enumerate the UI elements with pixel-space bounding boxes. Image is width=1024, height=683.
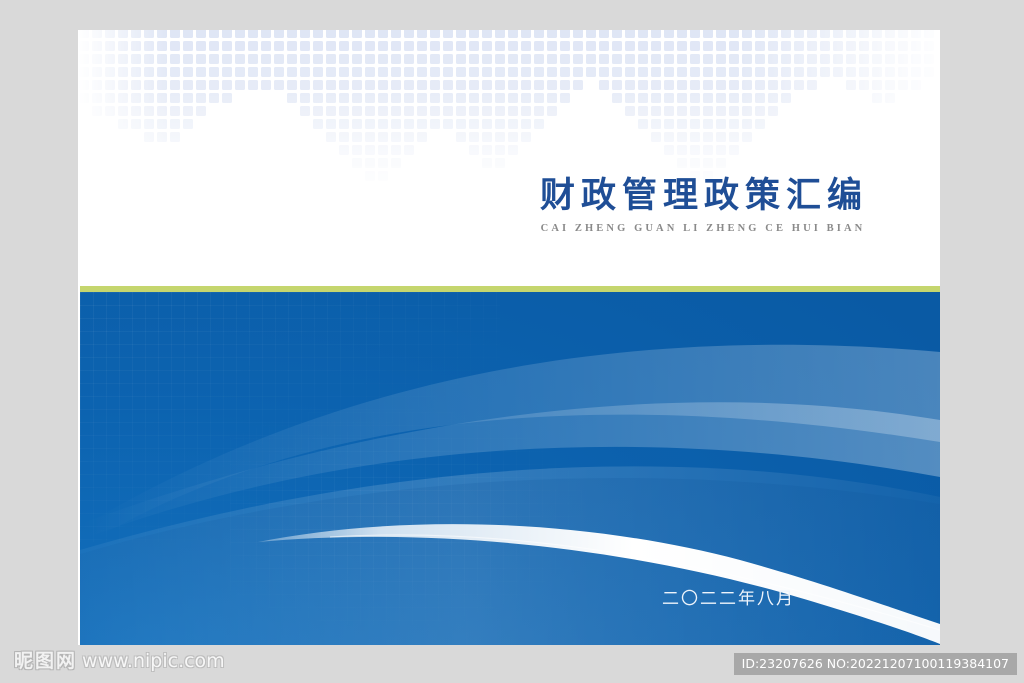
skyline-cell [404,93,414,103]
skyline-cell [872,54,882,64]
skyline-cell [885,93,895,103]
skyline-cell [742,30,752,38]
swoosh-graphic [80,292,940,645]
skyline-cell [209,54,219,64]
skyline-cell [274,80,284,90]
skyline-cell [131,106,141,116]
skyline-cell [391,106,401,116]
skyline-cell [378,171,388,181]
skyline-cell [183,54,193,64]
skyline-cell [287,67,297,77]
skyline-cell [300,93,310,103]
skyline-cell [521,93,531,103]
skyline-cell [885,54,895,64]
skyline-cell [352,67,362,77]
skyline-cell [209,93,219,103]
skyline-cell [768,41,778,51]
skyline-cell [677,119,687,129]
skyline-cell [664,145,674,155]
skyline-cell [144,119,154,129]
nipic-logo-char: 图 [35,652,54,671]
skyline-cell [573,67,583,77]
skyline-cell [196,67,206,77]
skyline-cell [573,30,583,38]
skyline-cell [235,80,245,90]
skyline-cell [794,80,804,90]
skyline-cell [456,30,466,38]
skyline-cell [209,67,219,77]
skyline-cell [534,67,544,77]
skyline-cell [391,41,401,51]
skyline-cell [599,30,609,38]
skyline-cell [456,54,466,64]
skyline-cell [690,106,700,116]
skyline-cell [131,119,141,129]
skyline-cell [469,145,479,155]
skyline-cell [105,41,115,51]
skyline-cell [664,80,674,90]
skyline-cell [352,106,362,116]
skyline-cell [508,67,518,77]
skyline-cell [638,41,648,51]
skyline-cell [872,41,882,51]
skyline-cell [859,80,869,90]
skyline-cell [521,67,531,77]
skyline-cell [820,41,830,51]
skyline-cell [456,132,466,142]
skyline-cell [378,158,388,168]
skyline-cell [898,41,908,51]
skyline-cell [144,93,154,103]
skyline-cell [456,80,466,90]
skyline-cell [521,54,531,64]
skyline-cell [664,119,674,129]
skyline-cell [547,54,557,64]
skyline-cell [807,54,817,64]
skyline-cell [690,132,700,142]
skyline-cell [196,41,206,51]
skyline-cell [248,30,258,38]
skyline-cell [417,119,427,129]
skyline-cell [547,93,557,103]
skyline-cell [846,41,856,51]
skyline-cell [157,41,167,51]
skyline-cell [703,93,713,103]
nipic-logo-char: 网 [56,652,75,671]
skyline-cell [300,41,310,51]
skyline-cell [885,80,895,90]
skyline-cell [521,106,531,116]
skyline-cell [924,30,934,38]
skyline-cell [482,145,492,155]
skyline-cell [300,67,310,77]
skyline-cell [131,67,141,77]
skyline-cell [690,67,700,77]
skyline-cell [560,93,570,103]
skyline-cell [456,93,466,103]
skyline-cell [651,132,661,142]
skyline-cell [131,41,141,51]
skyline-cell [352,30,362,38]
skyline-cell [144,80,154,90]
skyline-cell [261,54,271,64]
skyline-cell [677,41,687,51]
skyline-cell [456,41,466,51]
skyline-cell [274,54,284,64]
skyline-cell [872,30,882,38]
skyline-cell [157,106,167,116]
skyline-cell [469,132,479,142]
skyline-cell [716,158,726,168]
skyline-cell [430,119,440,129]
skyline-cell [768,67,778,77]
skyline-cell [482,30,492,38]
skyline-cell [924,41,934,51]
skyline-cell [404,67,414,77]
skyline-cell [222,93,232,103]
skyline-cell [287,80,297,90]
skyline-cell [404,80,414,90]
skyline-cell [365,158,375,168]
skyline-cell [443,30,453,38]
skyline-cell [378,145,388,155]
skyline-cell [755,106,765,116]
skyline-cell [651,67,661,77]
skyline-cell [612,67,622,77]
skyline-cell [807,67,817,77]
skyline-cell [378,30,388,38]
cover-title-chinese: 财政管理政策汇编 [534,176,868,216]
skyline-cell [703,145,713,155]
skyline-cell [183,119,193,129]
skyline-cell [833,54,843,64]
skyline-cell [417,30,427,38]
skyline-cell [716,30,726,38]
skyline-cell [248,67,258,77]
skyline-cell [742,106,752,116]
skyline-cell [807,30,817,38]
skyline-cell [222,54,232,64]
skyline-cell [651,30,661,38]
skyline-cell [677,67,687,77]
skyline-cell [183,67,193,77]
skyline-cell [378,80,388,90]
skyline-cell [820,67,830,77]
skyline-cell [326,30,336,38]
skyline-cell [248,80,258,90]
skyline-cell [599,41,609,51]
skyline-cell [534,30,544,38]
skyline-cell [404,106,414,116]
skyline-cell [469,54,479,64]
skyline-cell [560,30,570,38]
skyline-cell [872,93,882,103]
skyline-cell [313,80,323,90]
skyline-cell [339,54,349,64]
skyline-cell [716,132,726,142]
skyline-cell [846,54,856,64]
skyline-cell [651,93,661,103]
skyline-cell [365,80,375,90]
skyline-cell [261,30,271,38]
skyline-cell [196,80,206,90]
skyline-cell [391,30,401,38]
skyline-cell [612,30,622,38]
skyline-cell [404,119,414,129]
skyline-cell [170,54,180,64]
skyline-cell [443,41,453,51]
skyline-cell [534,54,544,64]
skyline-cell [898,54,908,64]
skyline-cell [703,41,713,51]
skyline-cell [573,80,583,90]
skyline-cell [534,106,544,116]
skyline-cell [612,54,622,64]
skyline-cell [131,30,141,38]
skyline-cell [859,30,869,38]
skyline-cell [105,93,115,103]
nipic-logo-char: 昵 [14,652,33,671]
cover-title-pinyin: CAI ZHENG GUAN LI ZHENG CE HUI BIAN [534,223,868,234]
skyline-cell [157,67,167,77]
skyline-cell [638,93,648,103]
skyline-cell [729,119,739,129]
skyline-cell [144,67,154,77]
skyline-cell [703,30,713,38]
skyline-cell [469,106,479,116]
skyline-cell [586,54,596,64]
skyline-cell [352,158,362,168]
skyline-cell [495,106,505,116]
skyline-cell [326,67,336,77]
skyline-cell [664,93,674,103]
skyline-cell [521,41,531,51]
skyline-cell [482,41,492,51]
skyline-cell [430,54,440,64]
skyline-cell [287,93,297,103]
skyline-cell [859,67,869,77]
skyline-cell [677,132,687,142]
skyline-cell [365,145,375,155]
skyline-cell [235,67,245,77]
skyline-cell [170,132,180,142]
skyline-cell [235,41,245,51]
skyline-cell [118,80,128,90]
skyline-cell [833,41,843,51]
watermark-url: www.nipic.com [82,652,225,671]
skyline-cell [495,119,505,129]
skyline-cell [274,30,284,38]
skyline-cell [404,54,414,64]
skyline-cell [547,106,557,116]
skyline-cell [534,93,544,103]
skyline-cell [326,119,336,129]
skyline-cell [703,67,713,77]
nipic-logo-icon: 昵图网 [14,652,75,671]
skyline-cell [820,30,830,38]
skyline-cell [274,67,284,77]
skyline-cell [742,119,752,129]
skyline-cell [287,54,297,64]
skyline-cell [716,54,726,64]
skyline-cell [482,67,492,77]
skyline-cell [885,41,895,51]
skyline-cell [105,30,115,38]
skyline-cell [417,132,427,142]
skyline-cell [482,119,492,129]
skyline-cell [157,93,167,103]
skyline-cell [508,54,518,64]
skyline-cell [339,80,349,90]
skyline-cell [768,30,778,38]
skyline-cell [378,106,388,116]
skyline-cell [118,54,128,64]
skyline-cell [859,41,869,51]
skyline-cell [586,41,596,51]
skyline-cell [885,67,895,77]
skyline-cell [833,30,843,38]
skyline-cell [729,54,739,64]
skyline-cell [755,67,765,77]
skyline-cell [742,93,752,103]
skyline-cell [417,67,427,77]
skyline-cell [911,54,921,64]
skyline-cell [742,80,752,90]
screenshot-canvas: 财政管理政策汇编 CAI ZHENG GUAN LI ZHENG CE HUI … [0,0,1024,683]
skyline-cell [508,132,518,142]
skyline-cell [755,30,765,38]
watermark-id-badge: ID:23207626 NO:20221207100119384107 [734,653,1017,675]
skyline-cell [794,54,804,64]
skyline-cell [833,67,843,77]
skyline-cell [391,132,401,142]
skyline-cell [664,106,674,116]
skyline-cell [183,106,193,116]
skyline-cell [638,119,648,129]
skyline-cell [729,80,739,90]
skyline-cell [820,54,830,64]
skyline-cell [313,106,323,116]
skyline-cell [508,119,518,129]
skyline-cell [482,132,492,142]
skyline-cell [495,30,505,38]
skyline-cell [326,93,336,103]
skyline-cell [482,93,492,103]
skyline-cell [547,67,557,77]
skyline-cell [859,54,869,64]
skyline-cell [638,67,648,77]
skyline-cell [612,41,622,51]
skyline-cell [768,54,778,64]
skyline-cell [300,30,310,38]
skyline-cell [183,30,193,38]
skyline-cell [781,41,791,51]
skyline-cell [196,93,206,103]
skyline-cell [261,80,271,90]
skyline-cell [677,54,687,64]
cover-artboard[interactable]: 财政管理政策汇编 CAI ZHENG GUAN LI ZHENG CE HUI … [78,30,940,645]
skyline-cell [690,93,700,103]
skyline-cell [638,54,648,64]
skyline-cell [690,158,700,168]
skyline-cell [677,80,687,90]
skyline-cell [92,41,102,51]
skyline-cell [170,67,180,77]
skyline-cell [170,93,180,103]
skyline-cell [625,41,635,51]
skyline-cell [339,145,349,155]
skyline-cell [625,30,635,38]
skyline-cell [625,67,635,77]
skyline-cell [664,54,674,64]
skyline-cell [690,30,700,38]
skyline-cell [92,67,102,77]
skyline-cell [170,41,180,51]
skyline-cell [443,119,453,129]
skyline-cell [339,106,349,116]
skyline-cell [586,67,596,77]
skyline-cell [716,93,726,103]
skyline-cell [378,93,388,103]
skyline-cell [79,80,89,90]
skyline-cell [378,54,388,64]
skyline-cell [521,80,531,90]
skyline-cell [79,93,89,103]
skyline-cell [339,119,349,129]
skyline-cell [79,30,89,38]
skyline-cell [755,54,765,64]
skyline-cell [339,67,349,77]
skyline-cell [274,41,284,51]
skyline-cell [521,30,531,38]
skyline-cell [469,119,479,129]
skyline-cell [313,54,323,64]
skyline-cell [352,41,362,51]
cover-bottom-panel: 二〇二二年八月 [80,292,940,645]
skyline-cell [846,67,856,77]
skyline-cell [469,67,479,77]
skyline-cell [677,30,687,38]
skyline-cell [651,41,661,51]
skyline-cell [144,41,154,51]
skyline-cell [781,93,791,103]
skyline-cell [729,93,739,103]
skyline-cell [495,54,505,64]
skyline-cell [365,171,375,181]
skyline-cell [690,41,700,51]
skyline-cell [222,41,232,51]
skyline-cell [105,67,115,77]
skyline-cell [365,132,375,142]
skyline-cell [300,54,310,64]
cover-top-panel: 财政管理政策汇编 CAI ZHENG GUAN LI ZHENG CE HUI … [78,30,940,286]
skyline-cell [911,41,921,51]
skyline-cell [742,67,752,77]
skyline-cell [651,119,661,129]
skyline-cell [560,41,570,51]
skyline-cell [638,80,648,90]
skyline-cell [352,80,362,90]
skyline-cell [729,30,739,38]
skyline-cell [365,41,375,51]
skyline-cell [391,93,401,103]
skyline-cell [378,132,388,142]
skyline-cell [482,80,492,90]
skyline-cell [664,30,674,38]
skyline-cell [560,80,570,90]
skyline-cell [664,132,674,142]
skyline-cell [339,41,349,51]
